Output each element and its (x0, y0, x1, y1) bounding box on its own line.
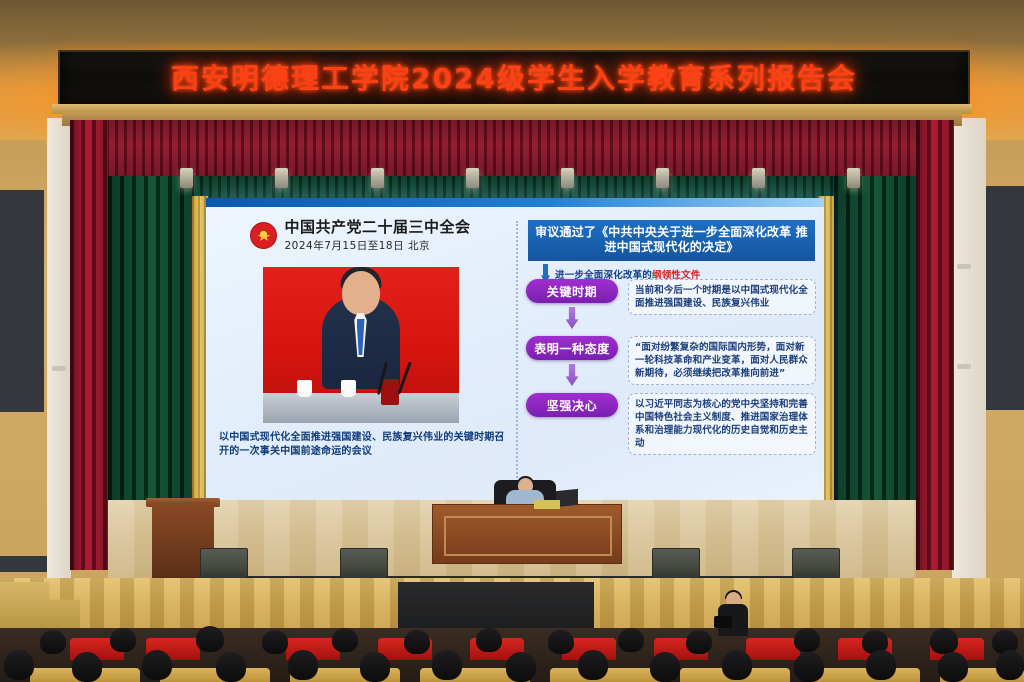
flow-pill: 关键时期 (526, 279, 618, 303)
red-curtain-left (70, 120, 108, 570)
camera-icon (714, 616, 732, 628)
flow-pill-column: 坚强决心 (525, 393, 619, 417)
flow-pill: 表明一种态度 (526, 336, 618, 360)
audience-head (40, 630, 66, 654)
audience-head (506, 652, 536, 682)
conference-heading: 中国共产党二十届三中全会 2024年7月15日至18日 北京 (206, 219, 515, 253)
audience-head (686, 630, 712, 654)
door-handle-left[interactable] (52, 366, 66, 371)
flow-row: 关键时期 当前和今后一个时期是以中国式现代化全面推进强国建设、民族复兴伟业 (525, 279, 816, 331)
photo-nameplate (381, 379, 399, 405)
photo-speaker-figure (322, 297, 400, 389)
audience-head (4, 650, 34, 680)
audience-head (432, 650, 462, 680)
side-door-left[interactable] (47, 118, 71, 580)
stage-light-bar (180, 168, 860, 194)
audience-head (578, 650, 608, 680)
stage-light-icon (656, 168, 669, 188)
stage-light-icon (371, 168, 384, 188)
flow-row: 坚强决心 以习近平同志为核心的党中央坚持和完善中国特色社会主义制度、推进国家治理… (525, 393, 816, 455)
head-table-panel (444, 516, 612, 556)
audience-head (794, 652, 824, 682)
audience-seat (746, 638, 800, 660)
flow-row: 表明一种态度 “面对纷繁复杂的国际国内形势，面对新一轮科技革命和产业变革，面对人… (525, 336, 816, 388)
slide-header-box: 审议通过了《中共中央关于进一步全面深化改革 推进中国式现代化的决定》 (528, 220, 815, 261)
audience-head (216, 652, 246, 682)
stage-light-icon (847, 168, 860, 188)
national-emblem-icon (250, 222, 277, 249)
side-door-right[interactable] (952, 118, 986, 584)
audience-head (650, 652, 680, 682)
audience-head (110, 628, 136, 652)
audience-head (360, 652, 390, 682)
stage-monitor-speaker (792, 548, 840, 580)
projection-screen: 中国共产党二十届三中全会 2024年7月15日至18日 北京 (206, 198, 824, 504)
audience-head (262, 630, 288, 654)
slide-left-caption: 以中国式现代化全面推进强国建设、民族复兴伟业的关键时期召开的一次事关中国前途命运… (219, 431, 506, 459)
auditorium-scene: 西安明德理工学院2024级学生入学教育系列报告会 中国共 (0, 0, 1024, 682)
audience-head (618, 628, 644, 652)
audience-head (476, 628, 502, 652)
stage-light-icon (180, 168, 193, 188)
flow-note: 以习近平同志为核心的党中央坚持和完善中国特色社会主义制度、推进国家治理体系和治理… (628, 393, 816, 455)
down-arrow-icon (566, 364, 579, 386)
stage-monitor-speaker (200, 548, 248, 580)
audience-head (996, 650, 1024, 680)
presentation-slide: 中国共产党二十届三中全会 2024年7月15日至18日 北京 (206, 207, 824, 504)
stage-light-icon (275, 168, 288, 188)
stage-monitor-speaker (340, 548, 388, 580)
conference-photo (263, 267, 459, 423)
photo-desk (263, 393, 459, 423)
audience-bench (810, 668, 920, 682)
photo-teacup (297, 380, 312, 397)
stage-light-icon (752, 168, 765, 188)
stage-light-icon (466, 168, 479, 188)
audience-head (938, 652, 968, 682)
audience-head (332, 628, 358, 652)
screen-top-bar (206, 198, 824, 207)
audience-bench (160, 668, 270, 682)
slide-flow-diagram: 关键时期 当前和今后一个时期是以中国式现代化全面推进强国建设、民族复兴伟业 表明… (525, 279, 816, 460)
red-curtain-right (916, 120, 954, 570)
audience-head (866, 650, 896, 680)
conference-title-block: 中国共产党二十届三中全会 2024年7月15日至18日 北京 (284, 219, 470, 253)
audience-area (0, 628, 1024, 682)
conference-title: 中国共产党二十届三中全会 (284, 219, 470, 236)
audience-head (930, 628, 958, 654)
audience-head (288, 650, 318, 680)
desk-nameplate (534, 500, 560, 509)
led-banner: 西安明德理工学院2024级学生入学教育系列报告会 (58, 50, 970, 108)
flow-pill: 坚强决心 (526, 393, 618, 417)
flow-pill-column: 关键时期 (525, 279, 619, 331)
stage-light-icon (561, 168, 574, 188)
acoustic-panel-right (986, 186, 1024, 410)
audience-head (404, 630, 430, 654)
apron-center-panel (398, 582, 594, 634)
acoustic-panel-left (0, 190, 44, 412)
flow-note: “面对纷繁复杂的国际国内形势，面对新一轮科技革命和产业变革，面对人民群众新期待，… (628, 336, 816, 385)
photo-speaker-head (342, 271, 380, 315)
slide-right-panel: 审议通过了《中共中央关于进一步全面深化改革 推进中国式现代化的决定》 进一步全面… (515, 207, 824, 504)
led-banner-text: 西安明德理工学院2024级学生入学教育系列报告会 (171, 65, 857, 93)
down-arrow-icon (566, 307, 579, 329)
flow-pill-column: 表明一种态度 (525, 336, 619, 388)
door-handle-right-upper[interactable] (957, 264, 971, 269)
stage-monitor-speaker (652, 548, 700, 580)
audience-head (548, 630, 574, 654)
photographer (714, 592, 752, 636)
audience-head (196, 626, 224, 652)
conference-date: 2024年7月15日至18日 北京 (284, 238, 470, 253)
door-handle-right[interactable] (957, 364, 971, 369)
photo-teacup (341, 380, 356, 397)
audience-head (722, 650, 752, 680)
audience-head (794, 628, 820, 652)
audience-head (142, 650, 172, 680)
audience-head (72, 652, 102, 682)
flow-note: 当前和今后一个时期是以中国式现代化全面推进强国建设、民族复兴伟业 (628, 279, 816, 315)
slide-left-panel: 中国共产党二十届三中全会 2024年7月15日至18日 北京 (206, 207, 515, 504)
